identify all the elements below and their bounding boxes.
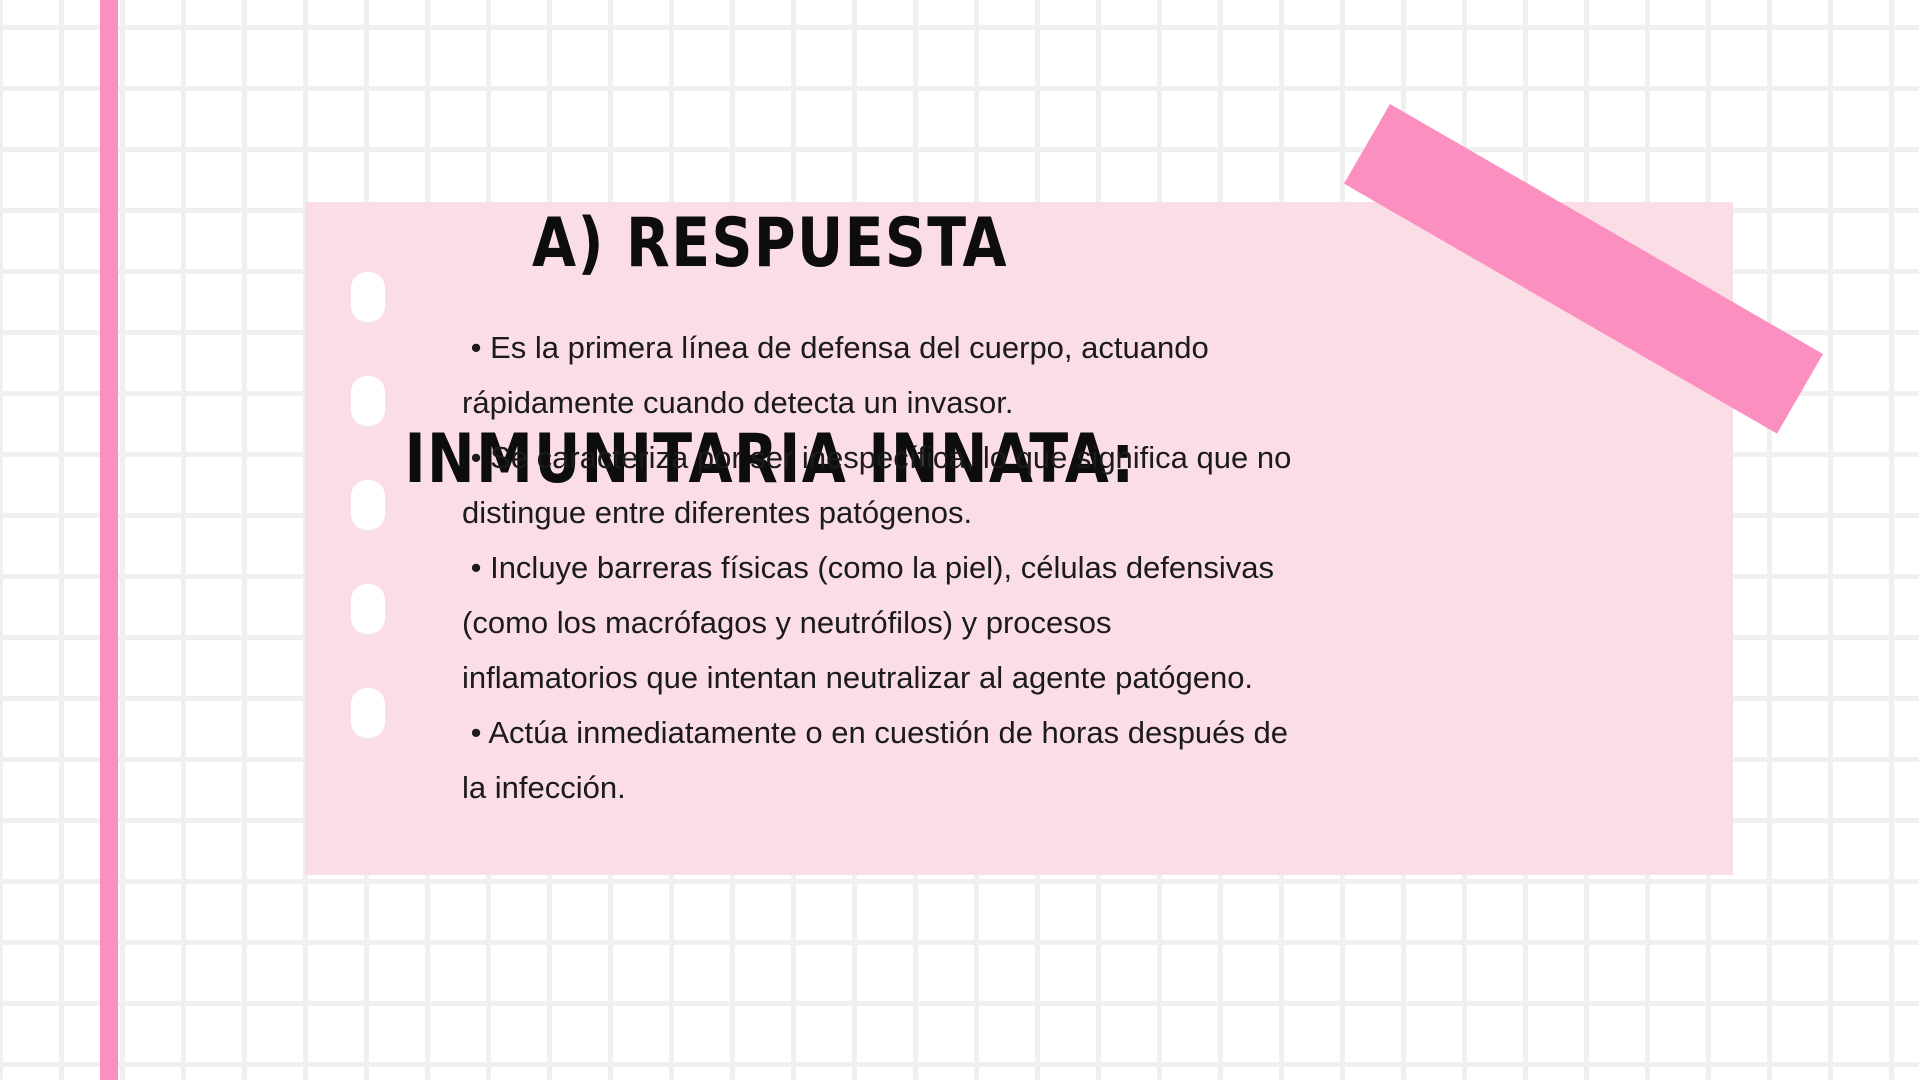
punch-hole-5 <box>351 688 385 738</box>
body-line: • Actúa inmediatamente o en cuestión de … <box>462 705 1612 760</box>
body-line: distingue entre diferentes patógenos. <box>462 485 1612 540</box>
body-line: rápidamente cuando detecta un invasor. <box>462 375 1612 430</box>
body-line: • Es la primera línea de defensa del cue… <box>462 320 1612 375</box>
body-line: • Incluye barreras físicas (como la piel… <box>462 540 1612 595</box>
slide-body: • Es la primera línea de defensa del cue… <box>462 320 1612 815</box>
body-line: inflamatorios que intentan neutralizar a… <box>462 650 1612 705</box>
body-line: • Se caracteriza por ser inespecífica, l… <box>462 430 1612 485</box>
pink-margin-rule <box>100 0 118 1080</box>
slide-title-line-1: A) RESPUESTA <box>342 208 1198 280</box>
body-line: (como los macrófagos y neutrófilos) y pr… <box>462 595 1612 650</box>
body-line: la infección. <box>462 760 1612 815</box>
slide-canvas: A) RESPUESTA INMUNITARIA INNATA: • Es la… <box>0 0 1919 1080</box>
